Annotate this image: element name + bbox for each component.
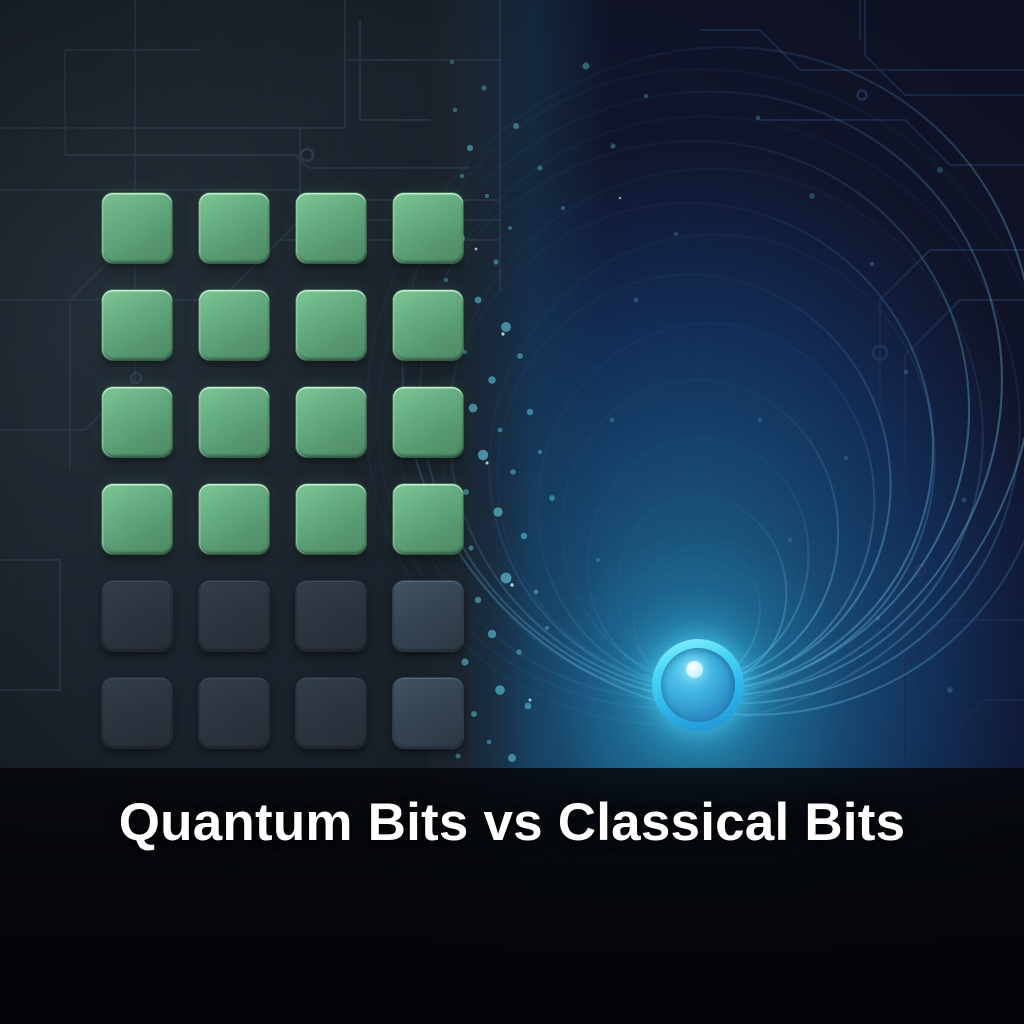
quantum-vs-classical-illustration: Quantum Bits vs Classical Bits [0,0,1024,1024]
title-bar: Quantum Bits vs Classical Bits [0,768,1024,1024]
page-title: Quantum Bits vs Classical Bits [119,792,906,853]
